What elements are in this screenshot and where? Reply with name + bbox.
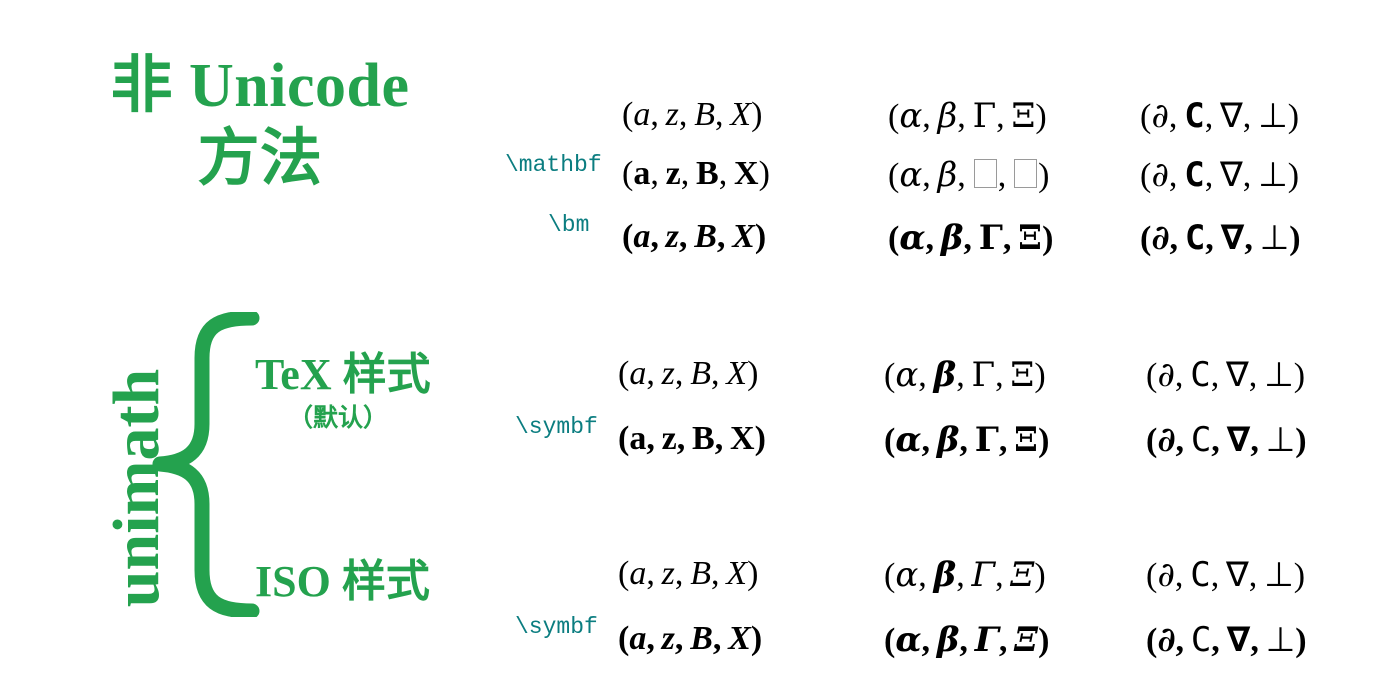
missing-glyph-box (974, 159, 997, 189)
curly-brace-icon (140, 312, 260, 617)
cell-unimath-iso-symbf-latin: (a, z, B, X) (618, 620, 762, 700)
style-label-tex: TeX 样式 (255, 338, 431, 402)
cell-unimath-iso-symbf-operator: (∂, C, ∇, ⊥) (1146, 620, 1307, 700)
cell-unimath-iso-symbf-greek: (α, β, Γ, Ξ) (884, 620, 1049, 700)
figure-canvas: 非 Unicode 方法 (a, z, B, X) (α, β, Γ, Ξ) (… (0, 0, 1400, 700)
title-line-1: 非 Unicode (40, 50, 480, 123)
missing-glyph-box (1014, 159, 1037, 189)
style-label-iso: ISO 样式 (255, 545, 430, 609)
section-title-non-unicode: 非 Unicode 方法 (40, 50, 480, 196)
style-sublabel-tex-default: （默认） (288, 398, 388, 434)
command-label-symbf-iso: \symbf (515, 614, 598, 700)
title-line-2: 方法 (40, 123, 480, 196)
